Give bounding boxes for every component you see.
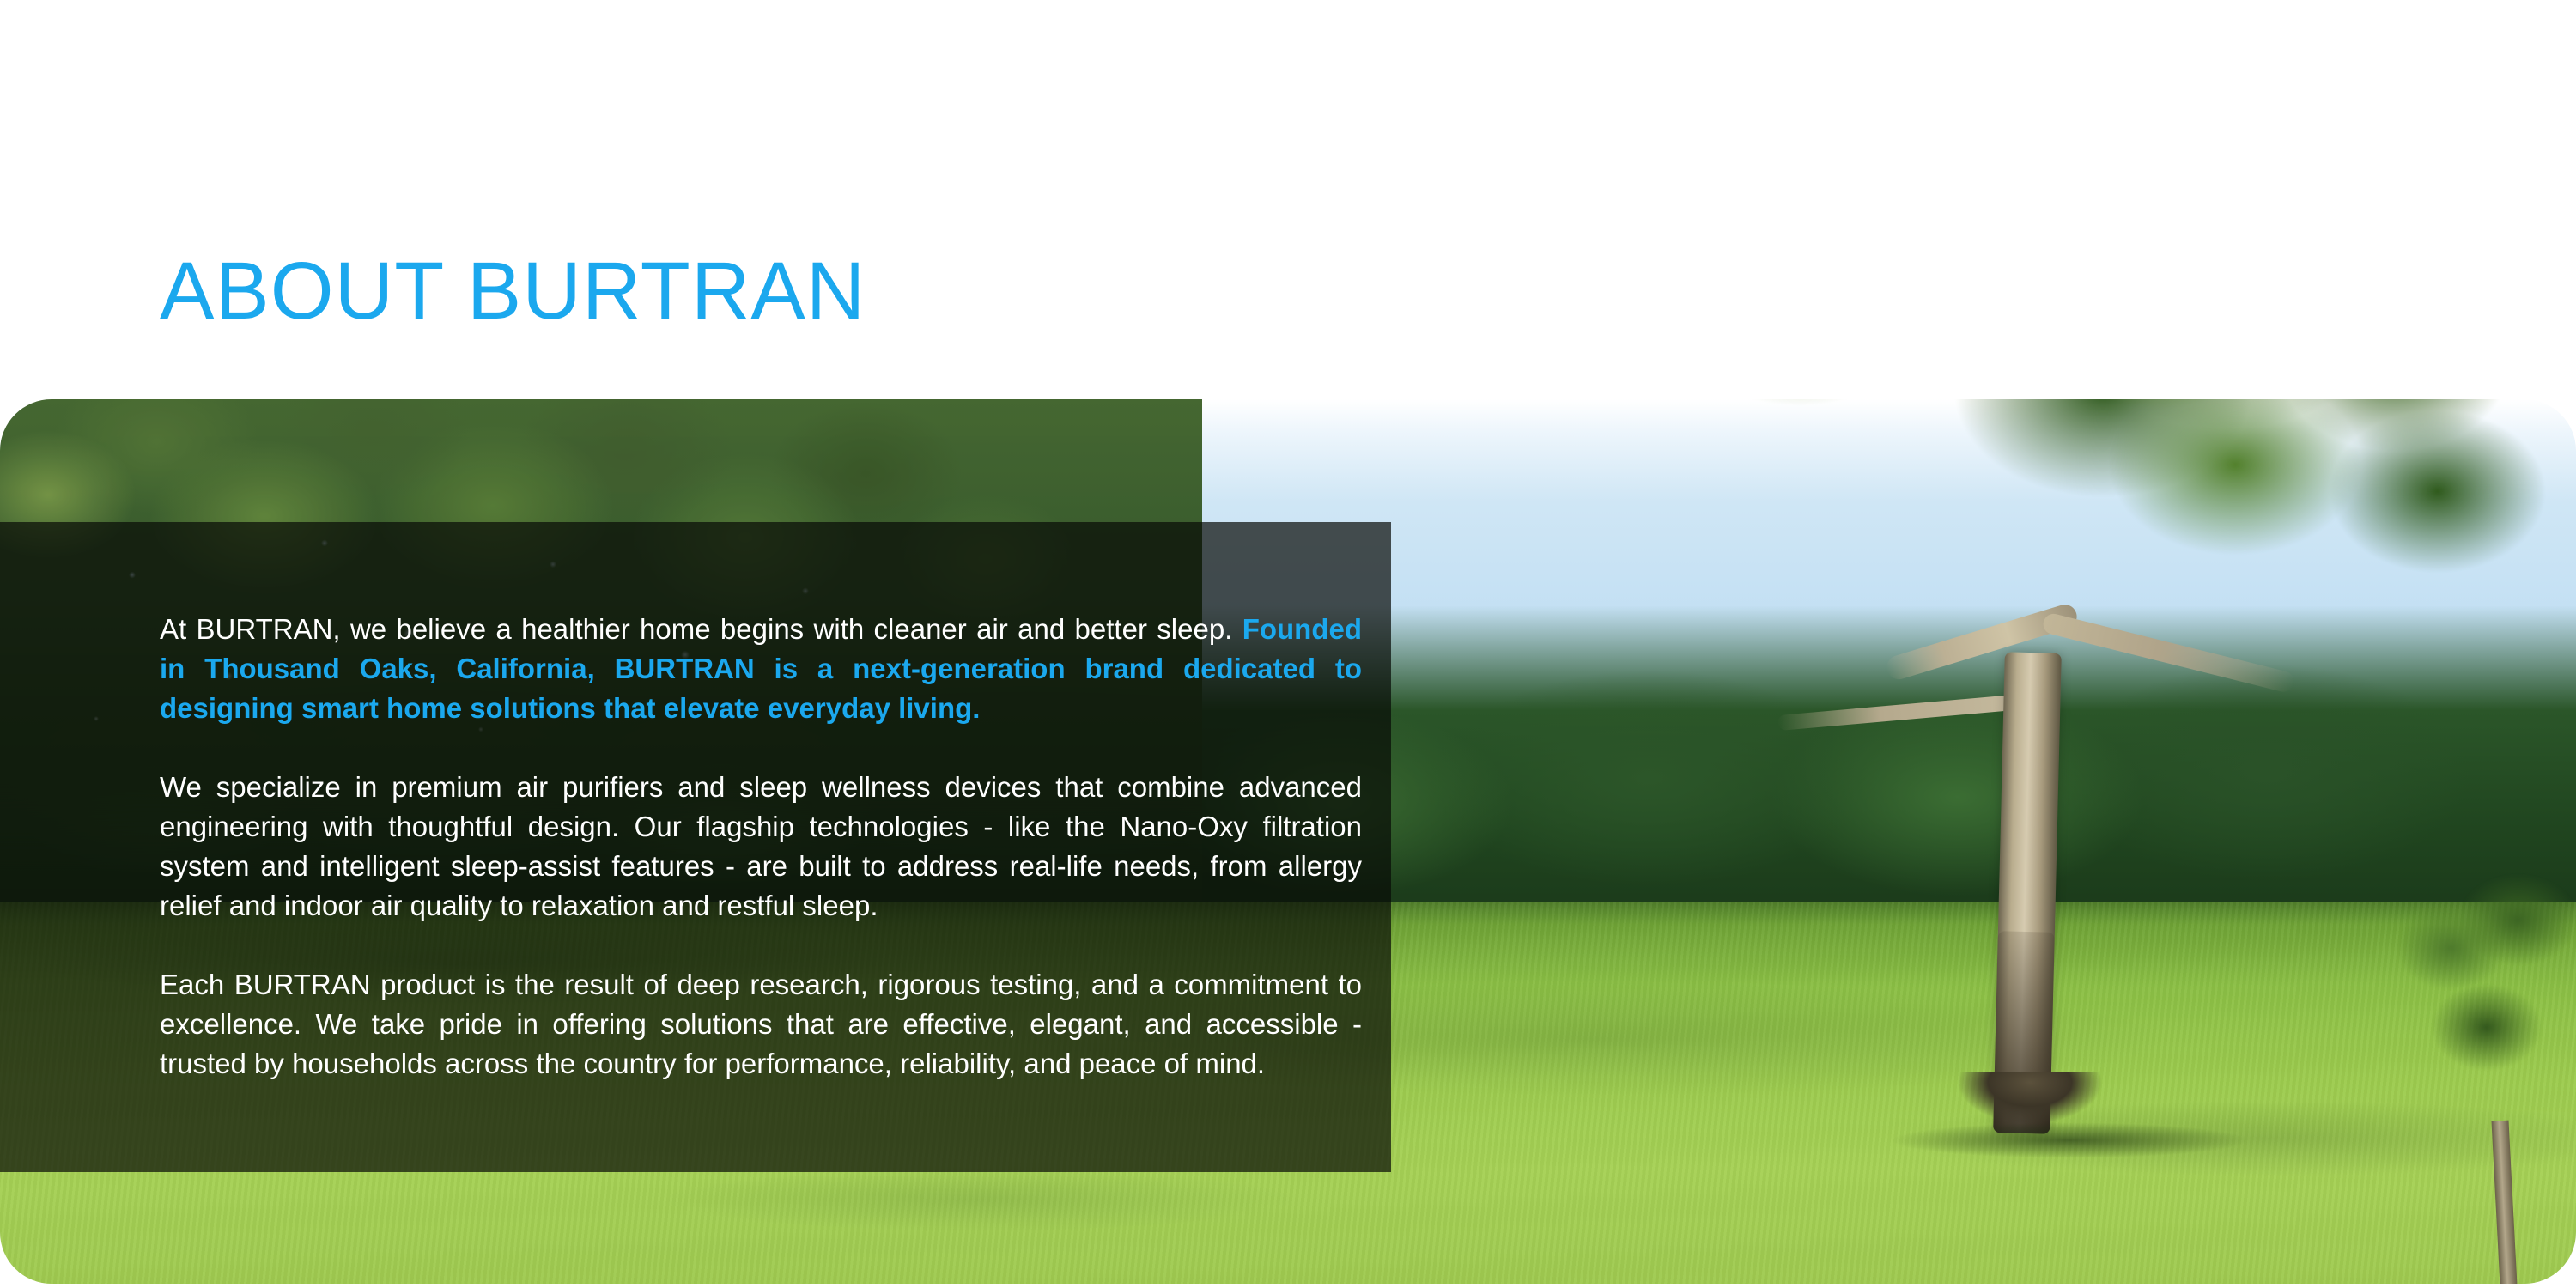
paragraph-3: Each BURTRAN product is the result of de… [160,965,1362,1084]
tree-trunk [1993,652,2062,1133]
about-body-copy: At BURTRAN, we believe a healthier home … [160,610,1362,1084]
secondary-tree-crown [2396,863,2576,1146]
page-title: ABOUT BURTRAN [160,251,866,332]
paragraph-1: At BURTRAN, we believe a healthier home … [160,610,1362,728]
paragraph-2-plain: We specialize in premium air purifiers a… [160,771,1362,921]
paragraph-2: We specialize in premium air purifiers a… [160,768,1362,926]
about-burtran-section: ABOUT BURTRAN At BURTRAN, we believe a h… [0,0,2576,1288]
tree-crown-lower [2044,399,2576,661]
paragraph-3-plain: Each BURTRAN product is the result of de… [160,969,1362,1079]
paragraph-1-plain: At BURTRAN, we believe a healthier home … [160,613,1242,645]
secondary-tree [2396,863,2576,1284]
tree-shadow [1829,1116,2310,1164]
tree-branch-low [1777,693,2035,731]
